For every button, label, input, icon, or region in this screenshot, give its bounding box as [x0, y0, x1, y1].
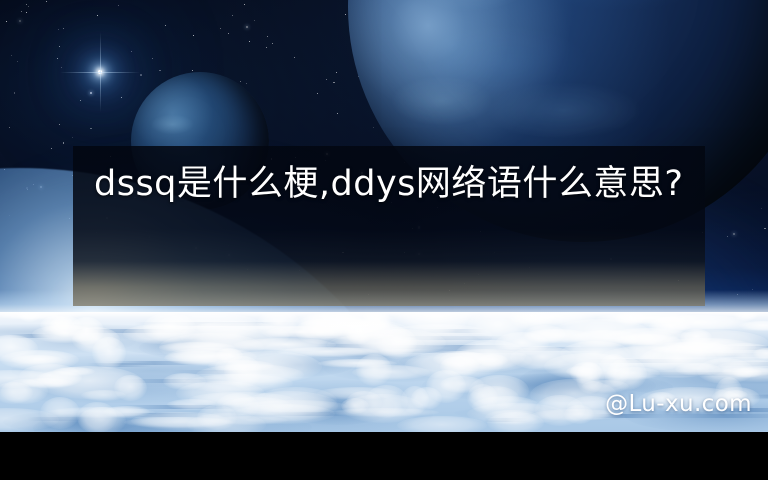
star [118, 5, 119, 6]
star [80, 100, 81, 101]
star [727, 236, 728, 237]
cover-image: dssq是什么梗,ddys网络语什么意思? @Lu-xu.com [0, 0, 768, 480]
star [97, 15, 98, 16]
cloud-puff [327, 334, 425, 356]
cloud-puff [639, 345, 718, 378]
star [326, 79, 327, 80]
star [249, 41, 250, 42]
cloud-puff [234, 338, 336, 352]
star [57, 58, 58, 59]
star [317, 93, 318, 94]
star [58, 29, 59, 30]
star [336, 72, 337, 73]
star [246, 26, 248, 28]
star [26, 12, 27, 13]
star [6, 21, 8, 23]
star [267, 36, 268, 37]
star [345, 14, 346, 15]
star [240, 81, 241, 82]
cloud-puff [40, 397, 80, 429]
cloud-puff [78, 407, 126, 432]
star [266, 47, 267, 48]
star [192, 70, 193, 71]
star [752, 289, 753, 290]
star [63, 142, 65, 144]
star [46, 1, 47, 2]
cloud-puff [596, 313, 701, 324]
star [152, 58, 154, 60]
star [11, 55, 12, 56]
cloud-puff [131, 412, 230, 430]
cloud-puff [352, 365, 430, 380]
cloud-puff [185, 374, 293, 393]
star [61, 67, 62, 68]
star [26, 4, 27, 5]
star [72, 137, 73, 138]
star [140, 74, 142, 76]
star [733, 233, 735, 235]
star [131, 51, 132, 52]
star [254, 20, 255, 21]
star [9, 127, 10, 128]
star [90, 92, 92, 94]
watermark: @Lu-xu.com [605, 391, 752, 417]
star [59, 46, 61, 48]
star [165, 25, 166, 26]
star [244, 4, 245, 5]
star [21, 11, 22, 12]
cloud-puff [455, 340, 526, 370]
star [19, 20, 21, 22]
star [232, 15, 233, 16]
star [28, 6, 29, 7]
letterbox-bar [0, 432, 768, 480]
bright-star-icon [98, 70, 102, 74]
cloud-puff [69, 317, 104, 345]
star [220, 28, 221, 29]
star [121, 97, 122, 98]
cloud-puff [485, 410, 539, 424]
star [333, 82, 335, 84]
star [373, 127, 374, 128]
star [737, 294, 738, 295]
star [59, 124, 60, 125]
cloud-puff [469, 386, 519, 410]
star [764, 228, 766, 230]
star [63, 28, 64, 29]
star [246, 83, 247, 84]
cloud-puff [411, 387, 442, 410]
cloud-puff [564, 405, 594, 424]
cloud-puff [81, 390, 126, 401]
star [51, 148, 52, 149]
cloud-puff [365, 385, 408, 418]
star [294, 57, 296, 59]
star [14, 92, 16, 94]
star [761, 208, 762, 209]
star [228, 33, 229, 34]
cloud-puff [11, 355, 63, 365]
cloud-puff [544, 353, 633, 380]
star [159, 70, 161, 72]
headline-text: dssq是什么梗,ddys网络语什么意思? [94, 158, 694, 210]
star [90, 128, 92, 130]
cloud-puff [240, 391, 338, 421]
star [272, 43, 273, 44]
star [337, 113, 338, 114]
star [193, 35, 194, 36]
headline-banner: dssq是什么梗,ddys网络语什么意思? [73, 146, 705, 306]
cloud-puff [164, 351, 237, 365]
star [17, 61, 18, 62]
